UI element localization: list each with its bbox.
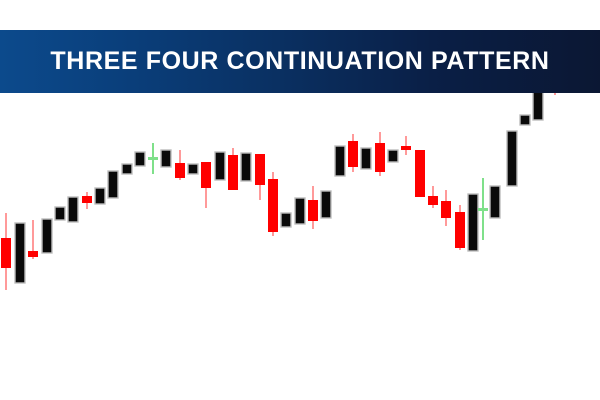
candlestick [68, 197, 78, 222]
candle-body [335, 146, 345, 176]
candlestick [161, 150, 171, 167]
candlestick [135, 152, 145, 166]
page-title: THREE FOUR CONTINUATION PATTERN [50, 49, 549, 74]
candle-body [161, 150, 171, 167]
candle-body [1, 238, 11, 268]
candlestick [241, 153, 251, 181]
candlestick [268, 172, 278, 236]
candle-body [42, 219, 52, 253]
candle-body [507, 131, 517, 186]
candle-body [215, 152, 225, 180]
candle-body [441, 201, 451, 218]
candle-body [308, 200, 318, 221]
candlestick [490, 186, 500, 218]
candlestick [108, 171, 118, 198]
candle-body [295, 198, 305, 224]
candle-body [388, 150, 398, 162]
candle-body [455, 212, 465, 248]
candle-body [82, 196, 92, 203]
candlestick [281, 213, 291, 227]
candle-wick [405, 136, 407, 155]
candle-body [95, 188, 105, 204]
candlestick [55, 207, 65, 220]
candle-body [361, 148, 371, 169]
candlestick [122, 164, 132, 174]
candle-body [28, 251, 38, 257]
candle-body [281, 213, 291, 227]
screenshot-root: THREE FOUR CONTINUATION PATTERN [0, 0, 600, 400]
candle-body [241, 153, 251, 181]
candle-body [321, 191, 331, 218]
candle-body [228, 155, 238, 190]
candlestick [42, 219, 52, 253]
candlestick [415, 150, 425, 197]
candle-body [490, 186, 500, 218]
candlestick [388, 150, 398, 162]
candle-body [122, 164, 132, 174]
candlestick [520, 115, 530, 125]
candlestick [468, 194, 478, 251]
candle-body [55, 207, 65, 220]
candlestick [335, 146, 345, 176]
candle-body [255, 154, 265, 185]
candlestick [15, 223, 25, 283]
candle-body [175, 163, 185, 178]
candle-body [68, 197, 78, 222]
candle-body [108, 171, 118, 198]
candlestick [188, 164, 198, 174]
candle-body [201, 162, 211, 188]
title-banner: THREE FOUR CONTINUATION PATTERN [0, 30, 600, 93]
candlestick [215, 152, 225, 180]
candle-body [520, 115, 530, 125]
candle-doji-tick [148, 157, 158, 160]
candle-body [401, 146, 411, 150]
candle-body [268, 179, 278, 232]
candle-body [415, 150, 425, 197]
candlestick [321, 191, 331, 218]
candle-doji-tick [478, 208, 488, 211]
candle-body [15, 223, 25, 283]
candle-body [348, 141, 358, 167]
candlestick [507, 131, 517, 186]
candlestick [95, 188, 105, 204]
candlestick [361, 148, 371, 169]
candlestick [295, 198, 305, 224]
candle-body [468, 194, 478, 251]
candle-body [188, 164, 198, 174]
candle-body [428, 196, 438, 205]
candle-body [375, 143, 385, 172]
candle-body [135, 152, 145, 166]
